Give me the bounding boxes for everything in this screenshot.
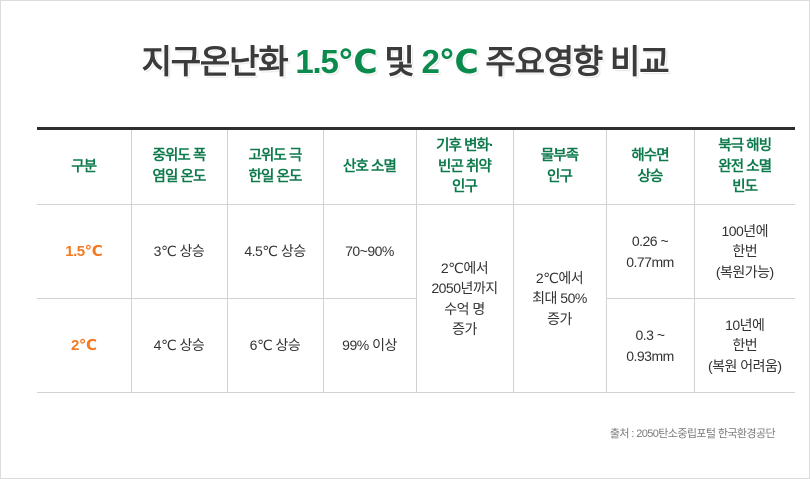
cell-high-lat-cold-1: 4.5℃ 상승 (227, 205, 323, 299)
column-header-arctic-ice-loss-line-0: 북극 해빙 (718, 138, 771, 154)
table-header: 구분 중위도 폭 염일 온도 고위도 극 한일 온도 산호 소멸 기후 변화· (37, 129, 795, 205)
cell-climate-poverty-merged: 2℃에서 2050년까지 수억 명 증가 (416, 205, 513, 393)
cell-scenario-2: 2℃ (37, 299, 131, 393)
cell-sea-level-rise-2-line-0: 0.3 ~ (635, 327, 664, 343)
column-header-mid-lat-heat: 중위도 폭 염일 온도 (131, 129, 227, 205)
cell-sea-level-rise-2: 0.3 ~ 0.93mm (606, 299, 694, 393)
comparison-table-container: 구분 중위도 폭 염일 온도 고위도 극 한일 온도 산호 소멸 기후 변화· (37, 127, 775, 393)
table-body: 1.5℃ 3℃ 상승 4.5℃ 상승 70~90% 2℃에서 2050년까지 수… (37, 205, 795, 393)
column-header-sea-level-rise-line-1: 상승 (638, 169, 663, 185)
column-header-arctic-ice-loss-line-1: 완전 소멸 (718, 159, 771, 175)
column-header-mid-lat-heat-line-0: 중위도 폭 (153, 148, 206, 164)
cell-sea-level-rise-2-line-1: 0.93mm (626, 348, 674, 364)
source-note: 출처 : 2050탄소중립포털 한국환경공단 (610, 425, 775, 441)
table-header-row: 구분 중위도 폭 염일 온도 고위도 극 한일 온도 산호 소멸 기후 변화· (37, 129, 795, 205)
column-header-climate-poverty: 기후 변화· 빈곤 취약 인구 (416, 129, 513, 205)
title-segment-3-accent: 2℃ (422, 43, 478, 80)
cell-arctic-ice-1-line-2: (복원가능) (716, 264, 774, 280)
column-header-category: 구분 (37, 129, 131, 205)
cell-water-shortage-line-1: 최대 50% (532, 290, 587, 306)
column-header-arctic-ice-loss: 북극 해빙 완전 소멸 빈도 (694, 129, 795, 205)
cell-water-shortage-line-0: 2℃에서 (536, 270, 583, 286)
column-header-climate-poverty-line-0: 기후 변화· (436, 138, 493, 154)
column-header-water-shortage: 물부족 인구 (513, 129, 606, 205)
column-header-category-line-0: 구분 (71, 159, 96, 175)
title-segment-2: 및 (376, 43, 421, 80)
column-header-climate-poverty-line-1: 빈곤 취약 (438, 159, 491, 175)
column-header-high-lat-cold-line-0: 고위도 극 (249, 148, 302, 164)
cell-sea-level-rise-1: 0.26 ~ 0.77mm (606, 205, 694, 299)
cell-water-shortage-merged: 2℃에서 최대 50% 증가 (513, 205, 606, 393)
column-header-mid-lat-heat-line-1: 염일 온도 (153, 169, 206, 185)
column-header-coral-loss: 산호 소멸 (323, 129, 416, 205)
cell-mid-lat-heat-1: 3℃ 상승 (131, 205, 227, 299)
cell-climate-poverty-line-0: 2℃에서 (441, 260, 488, 276)
column-header-sea-level-rise-line-0: 해수면 (631, 148, 668, 164)
infographic-page: 지구온난화 1.5℃ 및 2℃ 주요영향 비교 구분 중위도 폭 염일 온도 (1, 1, 809, 478)
cell-arctic-ice-2-line-0: 10년에 (725, 317, 764, 333)
column-header-coral-loss-line-0: 산호 소멸 (343, 159, 396, 175)
cell-arctic-ice-1-line-1: 한번 (732, 243, 757, 259)
cell-arctic-ice-2-line-2: (복원 어려움) (708, 358, 782, 374)
cell-coral-loss-1: 70~90% (323, 205, 416, 299)
page-title: 지구온난화 1.5℃ 및 2℃ 주요영향 비교 (142, 35, 669, 83)
cell-mid-lat-heat-2: 4℃ 상승 (131, 299, 227, 393)
column-header-climate-poverty-line-2: 인구 (452, 179, 477, 195)
cell-climate-poverty-line-2: 수억 명 (444, 301, 485, 317)
cell-climate-poverty-line-3: 증가 (452, 321, 477, 337)
cell-arctic-ice-2: 10년에 한번 (복원 어려움) (694, 299, 795, 393)
title-segment-0: 지구온난화 (142, 43, 296, 80)
column-header-water-shortage-line-0: 물부족 (541, 148, 578, 164)
cell-arctic-ice-2-line-1: 한번 (732, 337, 757, 353)
column-header-high-lat-cold-line-1: 한일 온도 (249, 169, 302, 185)
column-header-high-lat-cold: 고위도 극 한일 온도 (227, 129, 323, 205)
cell-arctic-ice-1-line-0: 100년에 (721, 223, 768, 239)
column-header-sea-level-rise: 해수면 상승 (606, 129, 694, 205)
title-segment-4: 주요영향 비교 (477, 43, 668, 80)
title-container: 지구온난화 1.5℃ 및 2℃ 주요영향 비교 (1, 35, 809, 83)
cell-sea-level-rise-1-line-1: 0.77mm (626, 254, 674, 270)
comparison-table: 구분 중위도 폭 염일 온도 고위도 극 한일 온도 산호 소멸 기후 변화· (37, 127, 795, 393)
cell-coral-loss-2: 99% 이상 (323, 299, 416, 393)
cell-sea-level-rise-1-line-0: 0.26 ~ (632, 233, 668, 249)
column-header-arctic-ice-loss-line-2: 빈도 (732, 179, 757, 195)
cell-scenario-1: 1.5℃ (37, 205, 131, 299)
title-segment-1-accent: 1.5℃ (295, 43, 376, 80)
cell-high-lat-cold-2: 6℃ 상승 (227, 299, 323, 393)
cell-climate-poverty-line-1: 2050년까지 (431, 280, 497, 296)
column-header-water-shortage-line-1: 인구 (547, 169, 572, 185)
cell-water-shortage-line-2: 증가 (547, 311, 572, 327)
table-row: 1.5℃ 3℃ 상승 4.5℃ 상승 70~90% 2℃에서 2050년까지 수… (37, 205, 795, 299)
cell-arctic-ice-1: 100년에 한번 (복원가능) (694, 205, 795, 299)
